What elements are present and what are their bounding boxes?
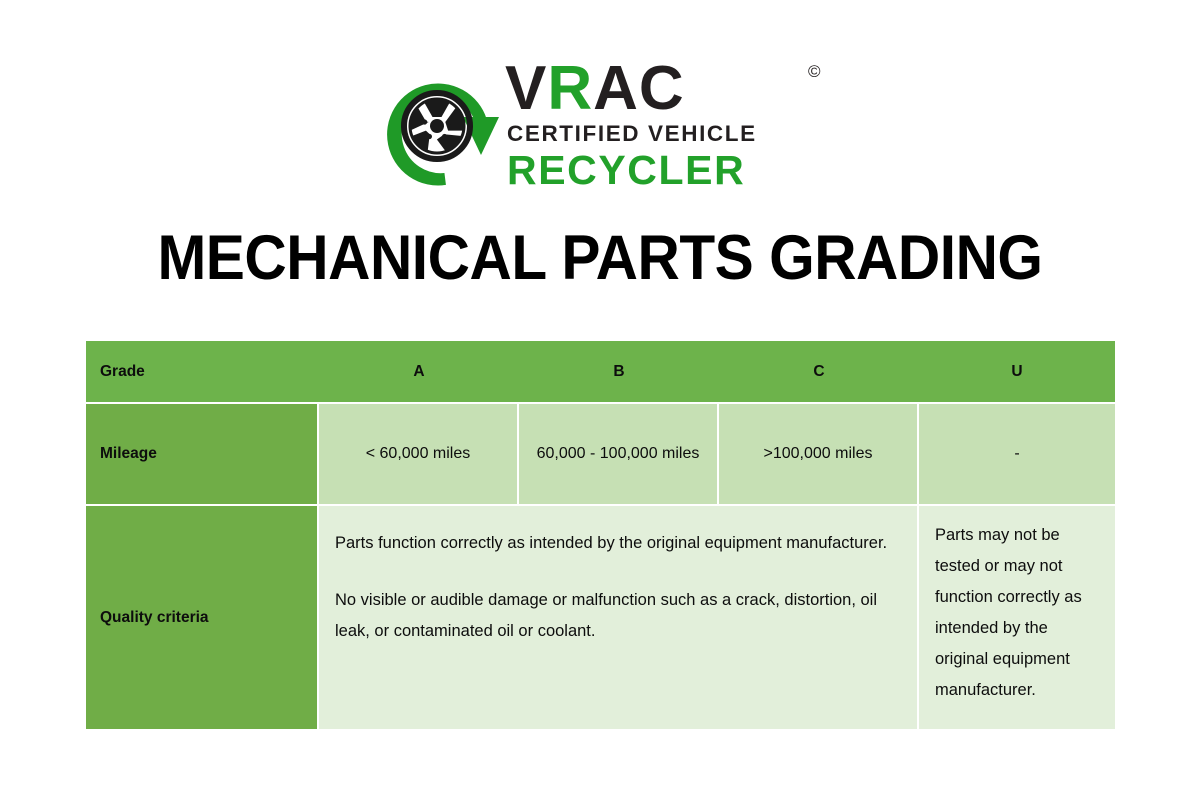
table-cell-quality-criteria-u: Parts may not be tested or may not funct… <box>919 506 1115 729</box>
vrac-logo: VRAC © CERTIFIED VEHICLE RECYCLER <box>375 58 840 198</box>
quality-criteria-paragraph-2: No visible or audible damage or malfunct… <box>335 585 901 647</box>
logo-tagline-bottom: RECYCLER <box>507 148 745 192</box>
table-cell-mileage-u: - <box>919 404 1115 504</box>
logo-wordmark: VRAC © CERTIFIED VEHICLE RECYCLER <box>505 58 840 198</box>
table-header-grade-u: U <box>919 341 1115 402</box>
page-root: VRAC © CERTIFIED VEHICLE RECYCLER MECHAN… <box>0 0 1200 800</box>
table-row-label-quality-criteria: Quality criteria <box>86 506 317 729</box>
table-header-grade-a: A <box>319 341 519 402</box>
copyright-icon: © <box>808 63 821 80</box>
mechanical-parts-grading-table: Grade A B C U Mileage < 60,000 miles 60,… <box>86 341 1115 729</box>
logo-letter-v: V <box>505 54 547 123</box>
table-cell-quality-criteria-abc: Parts function correctly as intended by … <box>319 506 917 729</box>
quality-criteria-paragraph-1: Parts function correctly as intended by … <box>335 528 901 559</box>
logo-letter-r: R <box>547 54 593 123</box>
wheel-rim-recycle-arrow-icon <box>375 63 505 193</box>
logo-brand-name: VRAC <box>505 58 685 120</box>
table-header-grade-b: B <box>519 341 719 402</box>
logo-tagline-top: CERTIFIED VEHICLE <box>507 122 757 146</box>
table-header-grade-c: C <box>719 341 919 402</box>
logo-letters-ac: AC <box>593 54 685 123</box>
table-cell-mileage-a: < 60,000 miles <box>319 404 517 504</box>
table-cell-mileage-b: 60,000 - 100,000 miles <box>519 404 717 504</box>
table-cell-mileage-c: >100,000 miles <box>719 404 917 504</box>
table-row-label-mileage: Mileage <box>86 404 317 504</box>
page-title: MECHANICAL PARTS GRADING <box>42 222 1158 294</box>
